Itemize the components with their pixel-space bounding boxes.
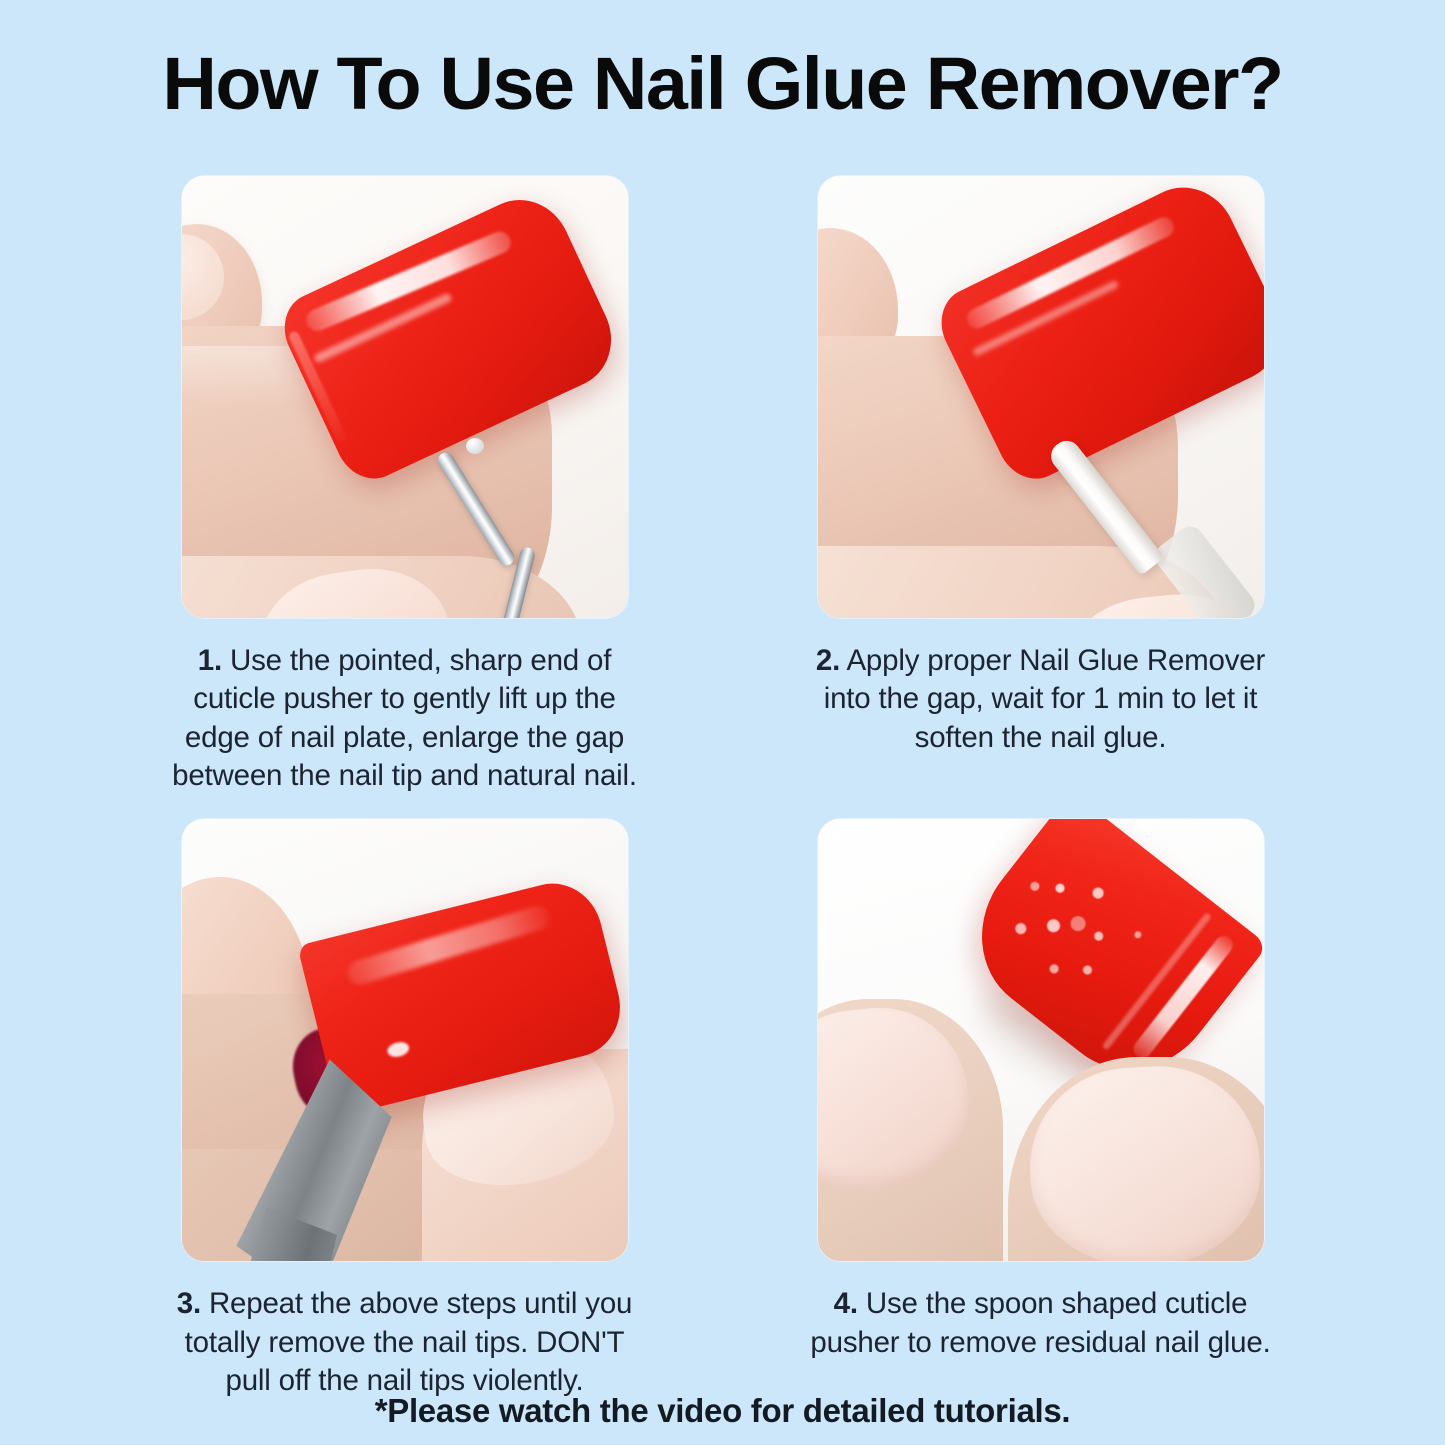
footer-note: *Please watch the video for detailed tut… <box>0 1392 1445 1430</box>
step-3-caption: 3. Repeat the above steps until you tota… <box>170 1285 640 1400</box>
step-2-caption: 2. Apply proper Nail Glue Remover into t… <box>806 642 1276 757</box>
steps-grid: 1. Use the pointed, sharp end of cuticle… <box>0 176 1445 1400</box>
photo-scene-removed-tip <box>818 819 1264 1261</box>
step-3-text: Repeat the above steps until you totally… <box>185 1287 633 1397</box>
step-4-text: Use the spoon shaped cuticle pusher to r… <box>810 1287 1270 1358</box>
step-1: 1. Use the pointed, sharp end of cuticle… <box>182 176 628 795</box>
photo-scene-cuticle-pusher <box>182 176 628 618</box>
photo-scene-glue-remover-brush <box>818 176 1264 618</box>
steps-row-top: 1. Use the pointed, sharp end of cuticle… <box>0 176 1445 795</box>
step-4: 4. Use the spoon shaped cuticle pusher t… <box>818 819 1264 1400</box>
page-title: How To Use Nail Glue Remover? <box>0 46 1445 123</box>
step-1-photo <box>182 176 628 618</box>
cuticle-pusher-point-icon <box>466 438 484 454</box>
step-3: 3. Repeat the above steps until you tota… <box>182 819 628 1400</box>
step-1-text: Use the pointed, sharp end of cuticle pu… <box>172 644 637 792</box>
step-2-text: Apply proper Nail Glue Remover into the … <box>824 644 1265 754</box>
photo-scene-lifting-nail-tip <box>182 819 628 1261</box>
step-4-photo <box>818 819 1264 1261</box>
step-1-caption: 1. Use the pointed, sharp end of cuticle… <box>170 642 640 795</box>
step-3-number: 3. <box>177 1287 201 1320</box>
step-1-number: 1. <box>198 644 222 677</box>
residual-glue-flakes-icon <box>980 826 1184 1029</box>
step-2: 2. Apply proper Nail Glue Remover into t… <box>818 176 1264 795</box>
step-2-photo <box>818 176 1264 618</box>
step-3-photo <box>182 819 628 1261</box>
steps-row-bottom: 3. Repeat the above steps until you tota… <box>0 819 1445 1400</box>
nail-specular-dot <box>385 1040 410 1059</box>
step-4-number: 4. <box>834 1287 858 1320</box>
nail-gloss-highlight <box>344 903 552 987</box>
infographic-page: How To Use Nail Glue Remover? <box>0 0 1445 1445</box>
nail-gloss-highlight <box>963 214 1177 332</box>
step-4-caption: 4. Use the spoon shaped cuticle pusher t… <box>806 1285 1276 1362</box>
step-2-number: 2. <box>816 644 840 677</box>
